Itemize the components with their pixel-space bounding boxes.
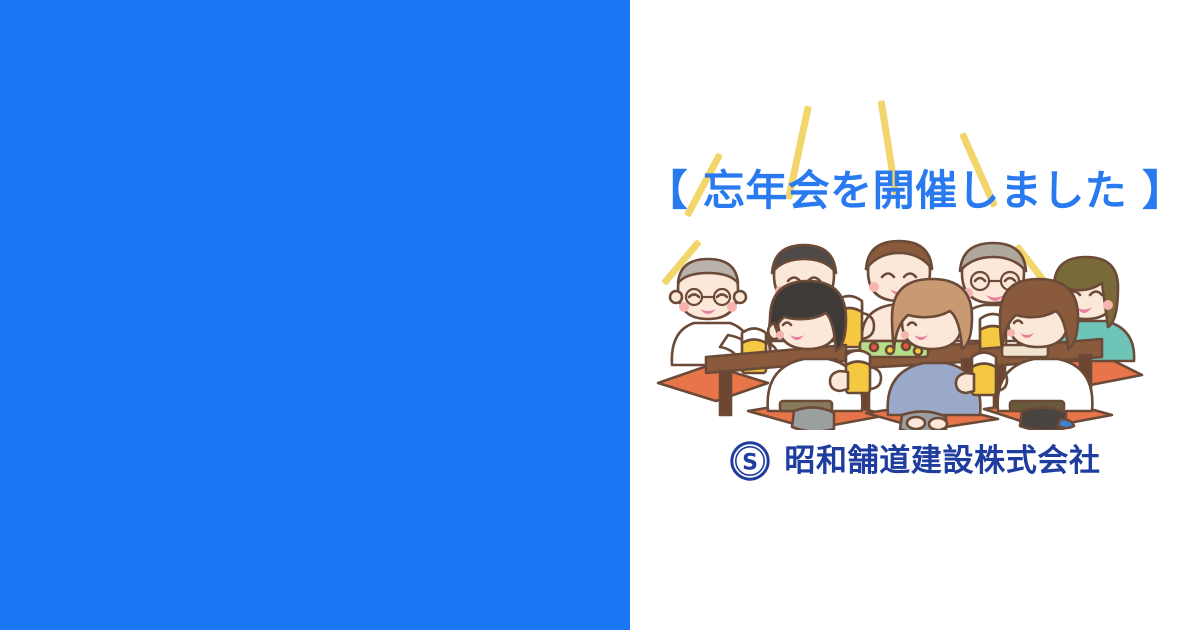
content-area: 【 忘年会を開催しました 】 .ol{stroke:#6b4a38;stroke… <box>630 0 1200 630</box>
svg-text:S: S <box>742 451 758 476</box>
circled-s-logo-icon: S <box>729 440 771 482</box>
year-end-party-illustration: .ol{stroke:#6b4a38;stroke-width:2.6;stro… <box>650 215 1150 430</box>
blue-color-panel <box>0 0 630 630</box>
company-name: 昭和舗道建設株式会社 <box>784 446 1100 477</box>
headline-title: 【 忘年会を開催しました 】 <box>630 157 1200 218</box>
company-logo-lockup: S 昭和舗道建設株式会社 <box>630 440 1200 482</box>
poster-canvas: 【 忘年会を開催しました 】 .ol{stroke:#6b4a38;stroke… <box>0 0 1200 630</box>
